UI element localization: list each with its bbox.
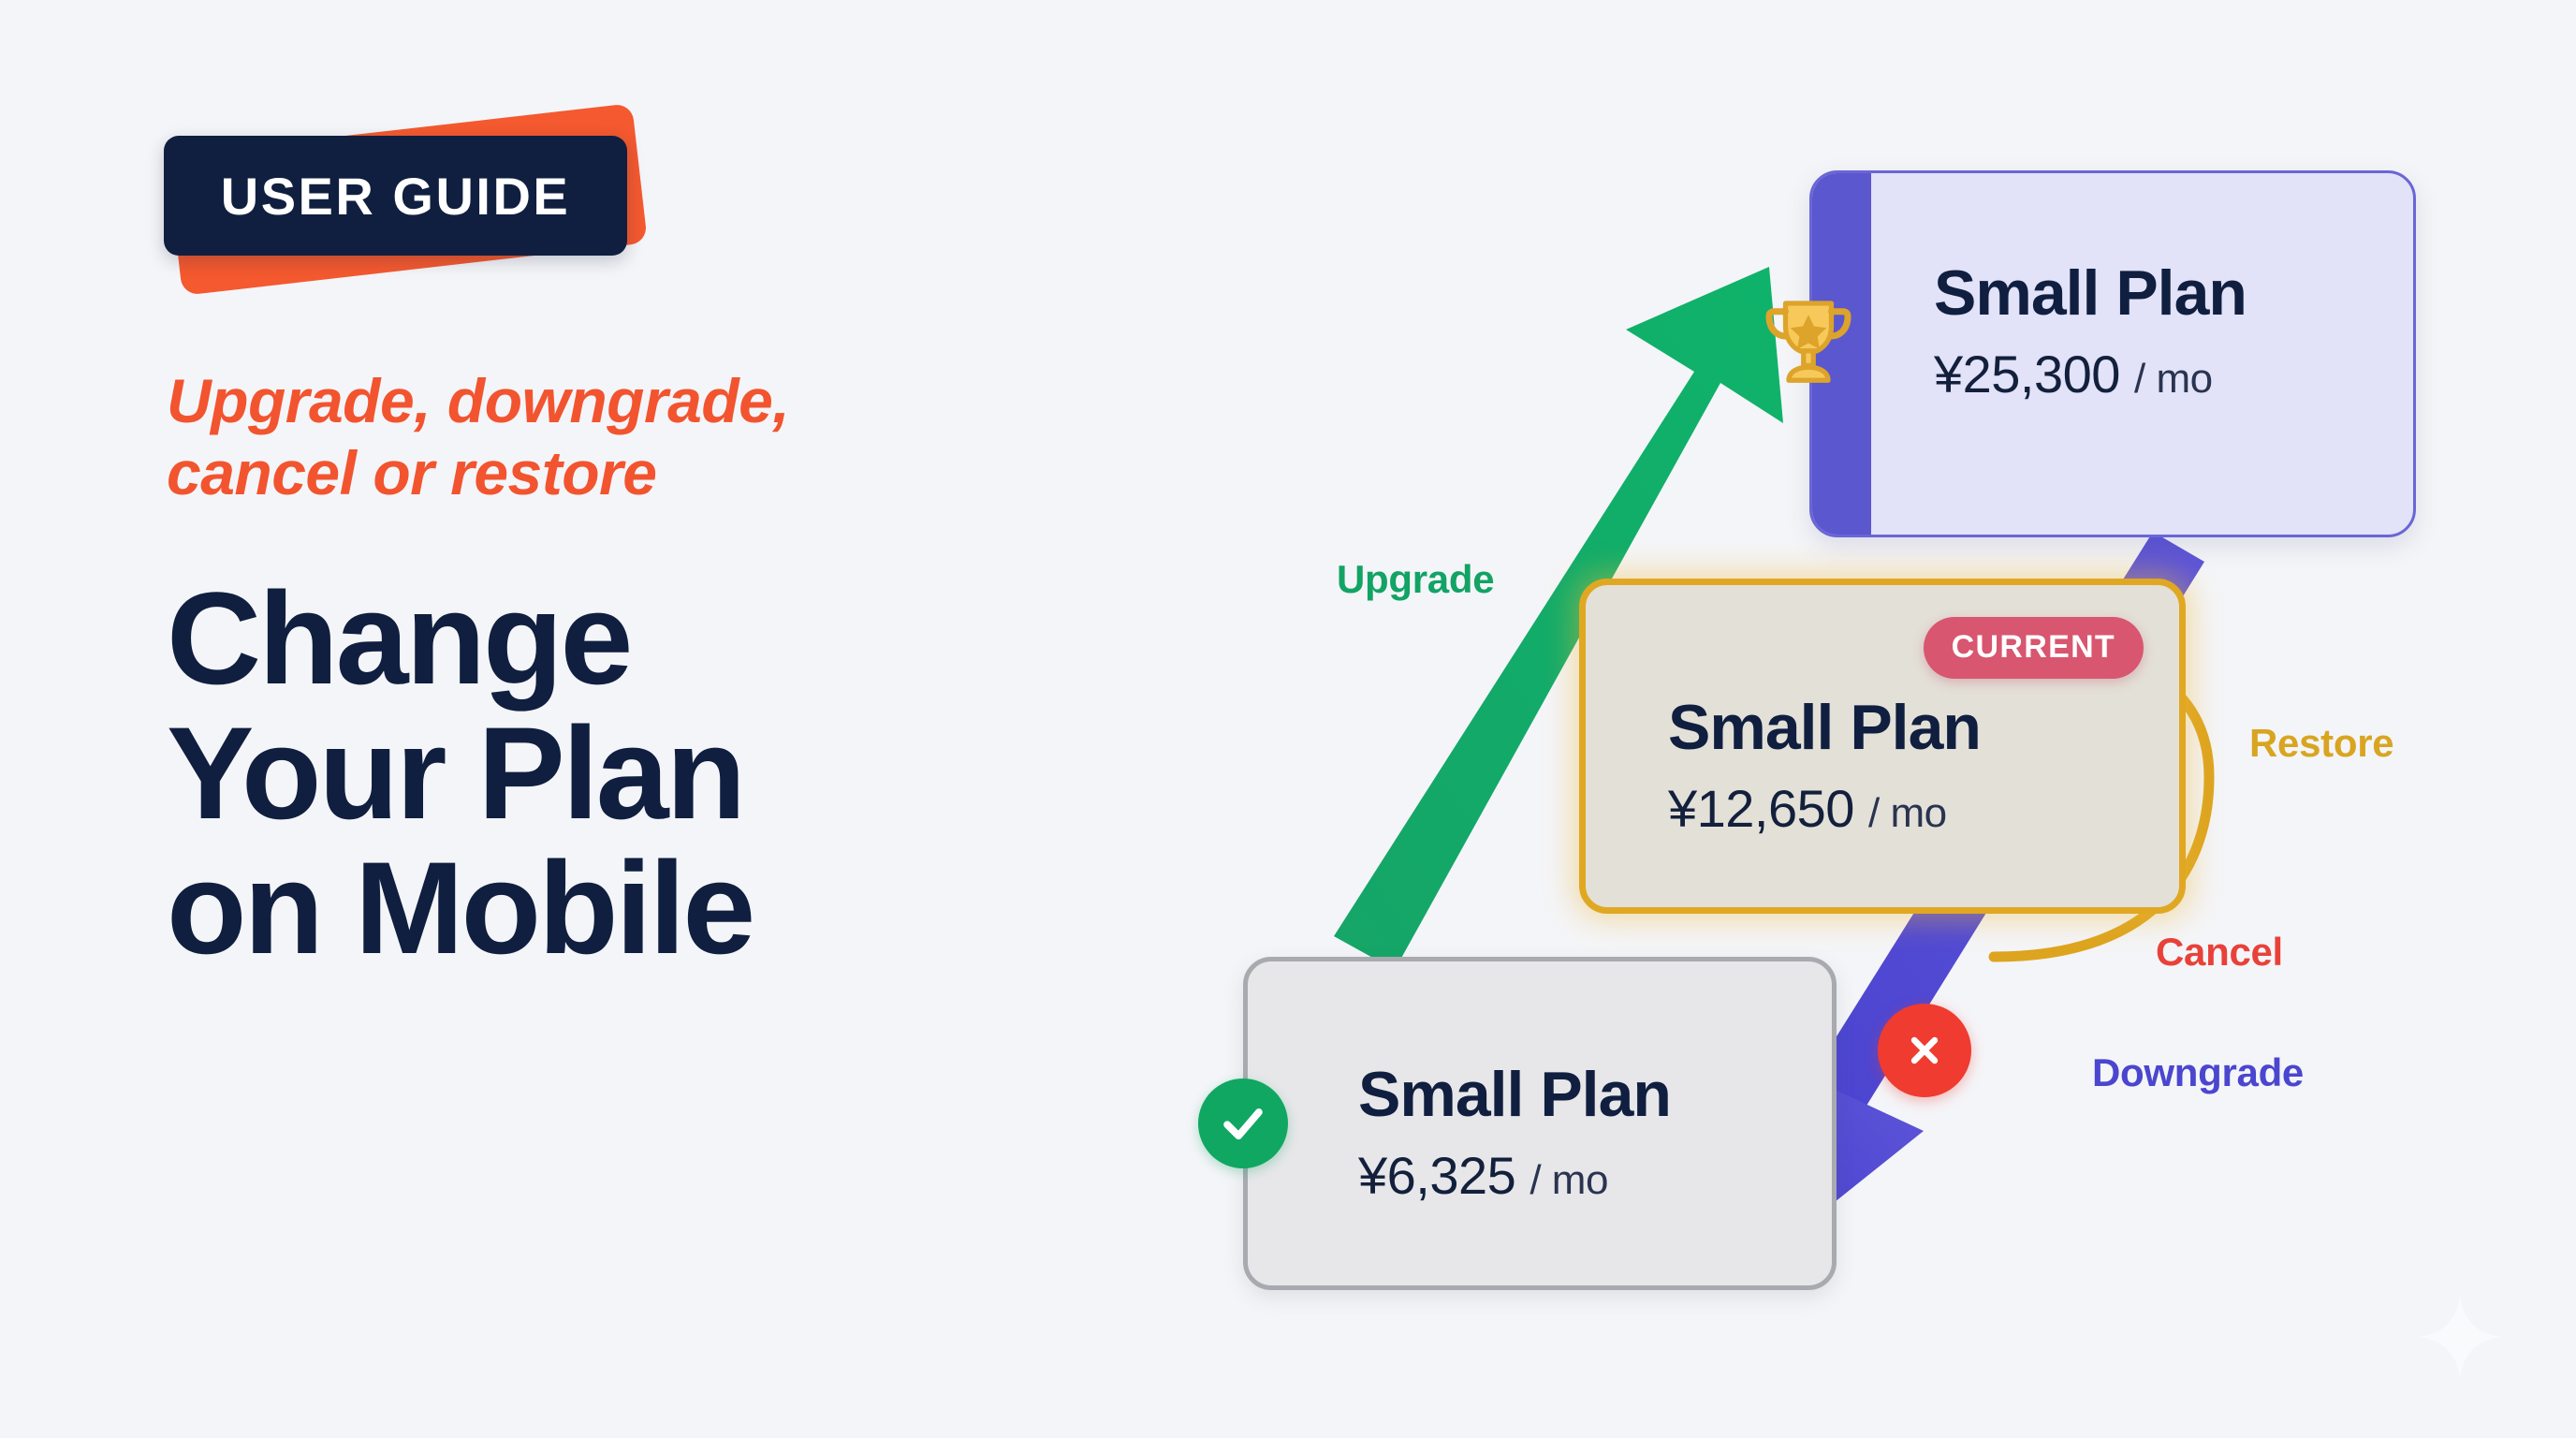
plan-price: ¥25,300 / mo [1934,344,2247,404]
check-circle-icon [1198,1078,1288,1168]
plan-price: ¥12,650 / mo [1668,778,1981,839]
label-cancel: Cancel [2156,930,2283,975]
plan-price-amount: ¥25,300 [1934,345,2120,404]
plan-card-downgrade[interactable]: Small Plan ¥6,325 / mo [1243,957,1837,1290]
sparkle-icon [2415,1292,2505,1382]
plan-card-upgrade[interactable]: Small Plan ¥25,300 / mo [1809,170,2416,537]
card-body: Small Plan ¥25,300 / mo [1934,261,2247,404]
badge-chip: USER GUIDE [164,136,627,256]
trophy-icon [1756,290,1861,395]
headline-line-1: Change [167,571,1103,706]
plan-name: Small Plan [1358,1063,1671,1126]
label-restore: Restore [2249,721,2393,766]
plan-price-period: / mo [2134,356,2213,402]
x-circle-icon [1878,1004,1971,1097]
poster-canvas: USER GUIDE Upgrade, downgrade, cancel or… [0,0,2576,1438]
hero-subtitle: Upgrade, downgrade, cancel or restore [167,365,1056,508]
hero-subtitle-line-2: cancel or restore [167,438,656,507]
plan-price: ¥6,325 / mo [1358,1145,1671,1206]
page-title: Change Your Plan on Mobile [167,571,1103,976]
badge-label: USER GUIDE [221,166,571,227]
hero-text-column: USER GUIDE Upgrade, downgrade, cancel or… [0,0,1123,1438]
user-guide-badge: USER GUIDE [164,122,669,300]
label-upgrade: Upgrade [1337,557,1494,602]
plan-price-amount: ¥12,650 [1668,779,1854,838]
status-badge: CURRENT [1924,617,2144,679]
card-body: Small Plan ¥6,325 / mo [1358,1063,1671,1206]
plan-card-current[interactable]: CURRENT Small Plan ¥12,650 / mo [1579,579,2186,914]
plan-name: Small Plan [1668,696,1981,759]
plan-price-period: / mo [1529,1157,1608,1203]
hero-subtitle-line-1: Upgrade, downgrade, [167,366,789,435]
plan-name: Small Plan [1934,261,2247,325]
plan-price-amount: ¥6,325 [1358,1146,1515,1205]
plan-price-period: / mo [1868,790,1947,836]
label-downgrade: Downgrade [2092,1050,2304,1095]
headline-line-3: on Mobile [167,841,1103,976]
card-body: Small Plan ¥12,650 / mo [1668,696,1981,839]
plan-change-diagram: Small Plan ¥25,300 / mo CURRENT Sm [1170,0,2576,1438]
headline-line-2: Your Plan [167,706,1103,841]
